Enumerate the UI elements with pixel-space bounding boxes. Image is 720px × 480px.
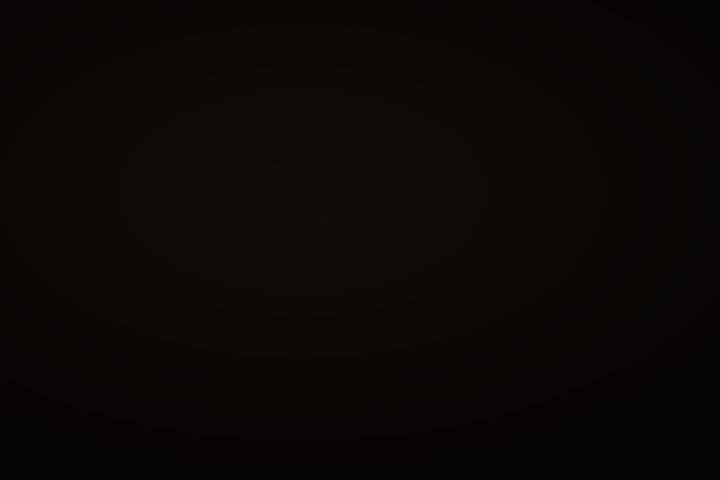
slide-title: Drug delivery with ultrasound and microb…: [56, 94, 492, 141]
presenter-toolbar[interactable]: ❮ ✎ ⌕ CC ▣ ⋯ ❯: [62, 350, 184, 365]
previous-slide-button[interactable]: ❮: [64, 351, 78, 365]
ieee-tagline-line2: for Humanity: [418, 333, 484, 340]
next-slide-button[interactable]: ❯: [168, 350, 182, 364]
more-options-button[interactable]: ⋯: [151, 350, 165, 364]
headset-earcup-left: [559, 191, 568, 204]
captions-button[interactable]: CC: [113, 351, 129, 364]
headset-cable: [588, 218, 590, 246]
all-slides-button[interactable]: ▣: [132, 351, 148, 364]
conference-room-photo: Drug delivery with ultrasound and microb…: [0, 0, 720, 480]
participant-name-text: Ayache Bouakaz: [532, 234, 582, 242]
participant-name-label: Ayache Bouakaz: [518, 233, 587, 243]
slide-title-japanese: 超音波とマイクロバブルによる薬物送達： 物理学から臨床まで: [57, 188, 493, 229]
glasses-bridge: [586, 190, 591, 191]
webcam-video-panel[interactable]: Ayache Bouakaz: [518, 165, 661, 247]
ieee-logo-row: IEEE: [418, 310, 484, 326]
slide-subtitle: from physics to clinics: [56, 152, 492, 176]
presenter-name: Ayache Bouakaz, PhD: [57, 247, 493, 264]
headset-earcup-right: [610, 191, 619, 204]
zoom-tool-button[interactable]: ⌕: [96, 351, 110, 365]
signal-strength-icon: [521, 235, 529, 241]
powerpoint-slide[interactable]: Drug delivery with ultrasound and microb…: [55, 63, 495, 367]
pen-tool-button[interactable]: ✎: [81, 352, 93, 364]
ieee-tagline: Advancing Technology for Humanity: [418, 327, 484, 340]
presenter-role: Director of research: [58, 262, 494, 278]
uffc-logo: UFFC: [70, 303, 113, 346]
mouse-cursor-icon: [634, 127, 645, 142]
ieee-diamond-icon: [424, 310, 440, 326]
ieee-logo-label: IEEE: [439, 310, 477, 325]
uffc-logo-label: UFFC: [70, 315, 112, 328]
slide-content: Drug delivery with ultrasound and microb…: [55, 76, 494, 348]
ieee-logo: IEEE Advancing Technology for Humanity: [418, 310, 484, 340]
